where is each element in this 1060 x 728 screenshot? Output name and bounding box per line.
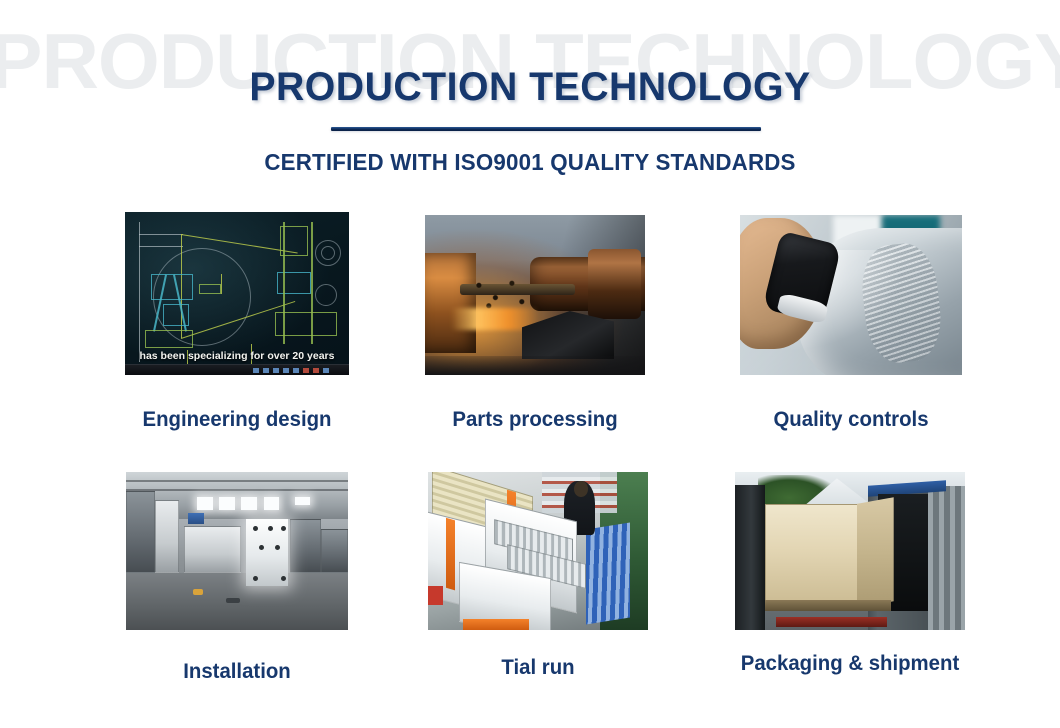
caption-engineering-design: Engineering design [116, 408, 359, 432]
slide-root: PRODUCTION TECHNOLOGY PRODUCTION TECHNOL… [0, 0, 1060, 728]
gallery-item-installation[interactable]: Installation [126, 472, 348, 630]
quality-controls-image[interactable] [740, 215, 962, 375]
caption-trial-run: Tial run [423, 656, 654, 680]
page-title: PRODUCTION TECHNOLOGY [11, 66, 1050, 108]
parts-processing-image[interactable] [425, 215, 645, 375]
gallery-item-parts-processing[interactable]: Parts processing [425, 215, 645, 375]
packaging-shipment-image[interactable] [735, 472, 965, 630]
gallery-item-packaging-shipment[interactable]: Packaging & shipment [735, 472, 965, 630]
engineering-design-image[interactable]: has been specializing for over 20 years [125, 212, 349, 375]
caption-packaging-shipment: Packaging & shipment [722, 652, 978, 676]
caption-parts-processing: Parts processing [420, 408, 651, 432]
engineering-design-overlay-text: has been specializing for over 20 years [125, 350, 349, 362]
caption-installation: Installation [122, 660, 353, 684]
cad-taskbar [125, 364, 349, 375]
gallery-item-trial-run[interactable]: Tial run [428, 472, 648, 630]
title-underline-rule [331, 127, 761, 131]
caption-quality-controls: Quality controls [736, 408, 967, 432]
gallery-item-quality-controls[interactable]: Quality controls [740, 215, 962, 375]
page-subtitle: CERTIFIED WITH ISO9001 QUALITY STANDARDS [16, 149, 1044, 176]
installation-image[interactable] [126, 472, 348, 630]
gallery-item-engineering-design[interactable]: has been specializing for over 20 years … [125, 212, 349, 375]
trial-run-image[interactable] [428, 472, 648, 630]
